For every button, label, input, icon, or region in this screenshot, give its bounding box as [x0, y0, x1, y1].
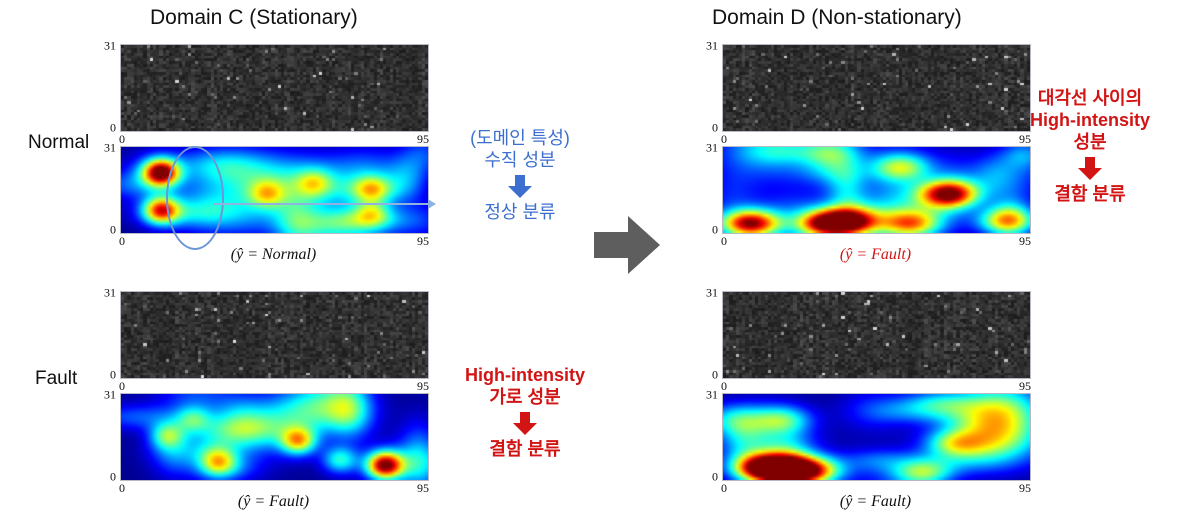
domain-d-normal-cam-ytick-bottom: 0 [712, 223, 718, 238]
domain-c-normal-cam-caption: (ŷ = Normal) [231, 246, 316, 264]
domain-c-normal-input-xtick-right: 95 [417, 132, 429, 147]
annotation-d-normal-line-2: High-intensity [1000, 110, 1180, 132]
highlight-pointer-arrowhead [428, 199, 436, 209]
domain-d-fault-cam-ytick-bottom: 0 [712, 470, 718, 485]
domain-c-normal-input [120, 44, 429, 132]
annotation-c-fault-conclusion: 결함 분류 [440, 439, 610, 461]
annotation-c-normal-conclusion: 정상 분류 [440, 202, 600, 224]
domain-transition-arrow [594, 214, 662, 281]
figure-canvas: Domain C (Stationary) Domain D (Non-stat… [0, 0, 1192, 518]
domain-c-fault-cam-caption: (ŷ = Fault) [238, 493, 309, 511]
domain-c-fault-cam-ytick-top: 31 [104, 388, 116, 403]
annotation-domain-d-normal: 대각선 사이의 High-intensity 성분 결함 분류 [1000, 88, 1180, 206]
domain-c-normal-input-ytick-bottom: 0 [110, 121, 116, 136]
domain-c-fault-input [120, 291, 429, 379]
domain-c-fault-input-image [120, 291, 429, 379]
domain-c-normal-cam-image [120, 146, 429, 234]
domain-d-fault-cam-ytick-top: 31 [706, 388, 718, 403]
domain-d-normal-cam-ytick-top: 31 [706, 141, 718, 156]
highlight-pointer-line [213, 203, 428, 205]
domain-d-fault-cam-xtick-right: 95 [1019, 481, 1031, 496]
down-arrow-icon [512, 412, 538, 436]
domain-c-fault-cam-ytick-bottom: 0 [110, 470, 116, 485]
row-label-fault: Fault [35, 368, 77, 390]
annotation-d-normal-line-1: 대각선 사이의 [1000, 88, 1180, 110]
row-label-normal: Normal [28, 132, 89, 154]
annotation-domain-c-normal: (도메인 특성) 수직 성분 정상 분류 [440, 128, 600, 224]
domain-d-normal-cam-xtick-left: 0 [721, 234, 727, 249]
domain-d-fault-cam-caption: (ŷ = Fault) [840, 493, 911, 511]
domain-c-fault-input-ytick-top: 31 [104, 286, 116, 301]
domain-d-fault-input-xtick-right: 95 [1019, 379, 1031, 394]
domain-d-normal-cam [722, 146, 1031, 234]
domain-c-normal-cam-ytick-top: 31 [104, 141, 116, 156]
domain-c-normal-cam-xtick-right: 95 [417, 234, 429, 249]
annotation-d-normal-line-3: 성분 [1000, 132, 1180, 154]
domain-d-normal-input-ytick-top: 31 [706, 39, 718, 54]
domain-c-normal-cam-ytick-bottom: 0 [110, 223, 116, 238]
domain-d-fault-input-ytick-bottom: 0 [712, 368, 718, 383]
annotation-c-normal-line-1: (도메인 특성) [440, 128, 600, 150]
domain-d-fault-input [722, 291, 1031, 379]
domain-c-normal-cam [120, 146, 429, 234]
domain-d-normal-cam-xtick-right: 95 [1019, 234, 1031, 249]
domain-d-normal-cam-caption: (ŷ = Fault) [840, 246, 911, 264]
annotation-d-normal-conclusion: 결함 분류 [1000, 184, 1180, 206]
domain-d-fault-input-ytick-top: 31 [706, 286, 718, 301]
domain-c-fault-cam-xtick-left: 0 [119, 481, 125, 496]
domain-d-fault-cam [722, 393, 1031, 481]
domain-d-fault-input-image [722, 291, 1031, 379]
domain-d-fault-cam-image [722, 393, 1031, 481]
domain-d-fault-input-xtick-left: 0 [721, 379, 727, 394]
domain-d-normal-input [722, 44, 1031, 132]
domain-c-normal-cam-xtick-left: 0 [119, 234, 125, 249]
domain-c-fault-cam-xtick-right: 95 [417, 481, 429, 496]
domain-c-fault-input-ytick-bottom: 0 [110, 368, 116, 383]
domain-d-normal-input-image [722, 44, 1031, 132]
domain-d-normal-cam-image [722, 146, 1031, 234]
domain-c-fault-input-xtick-left: 0 [119, 379, 125, 394]
down-arrow-icon [507, 175, 533, 199]
domain-d-fault-cam-xtick-left: 0 [721, 481, 727, 496]
annotation-c-fault-line-1: High-intensity [440, 365, 610, 387]
annotation-c-normal-line-2: 수직 성분 [440, 150, 600, 172]
domain-c-normal-input-image [120, 44, 429, 132]
domain-c-fault-cam [120, 393, 429, 481]
domain-c-title: Domain C (Stationary) [150, 6, 358, 30]
domain-c-fault-input-xtick-right: 95 [417, 379, 429, 394]
domain-c-fault-cam-image [120, 393, 429, 481]
domain-c-normal-input-xtick-left: 0 [119, 132, 125, 147]
domain-d-normal-input-ytick-bottom: 0 [712, 121, 718, 136]
domain-d-normal-input-xtick-left: 0 [721, 132, 727, 147]
annotation-c-fault-line-2: 가로 성분 [440, 387, 610, 409]
domain-d-title: Domain D (Non-stationary) [712, 6, 962, 30]
domain-c-normal-input-ytick-top: 31 [104, 39, 116, 54]
annotation-domain-c-fault: High-intensity 가로 성분 결함 분류 [440, 365, 610, 461]
down-arrow-icon [1077, 157, 1103, 181]
